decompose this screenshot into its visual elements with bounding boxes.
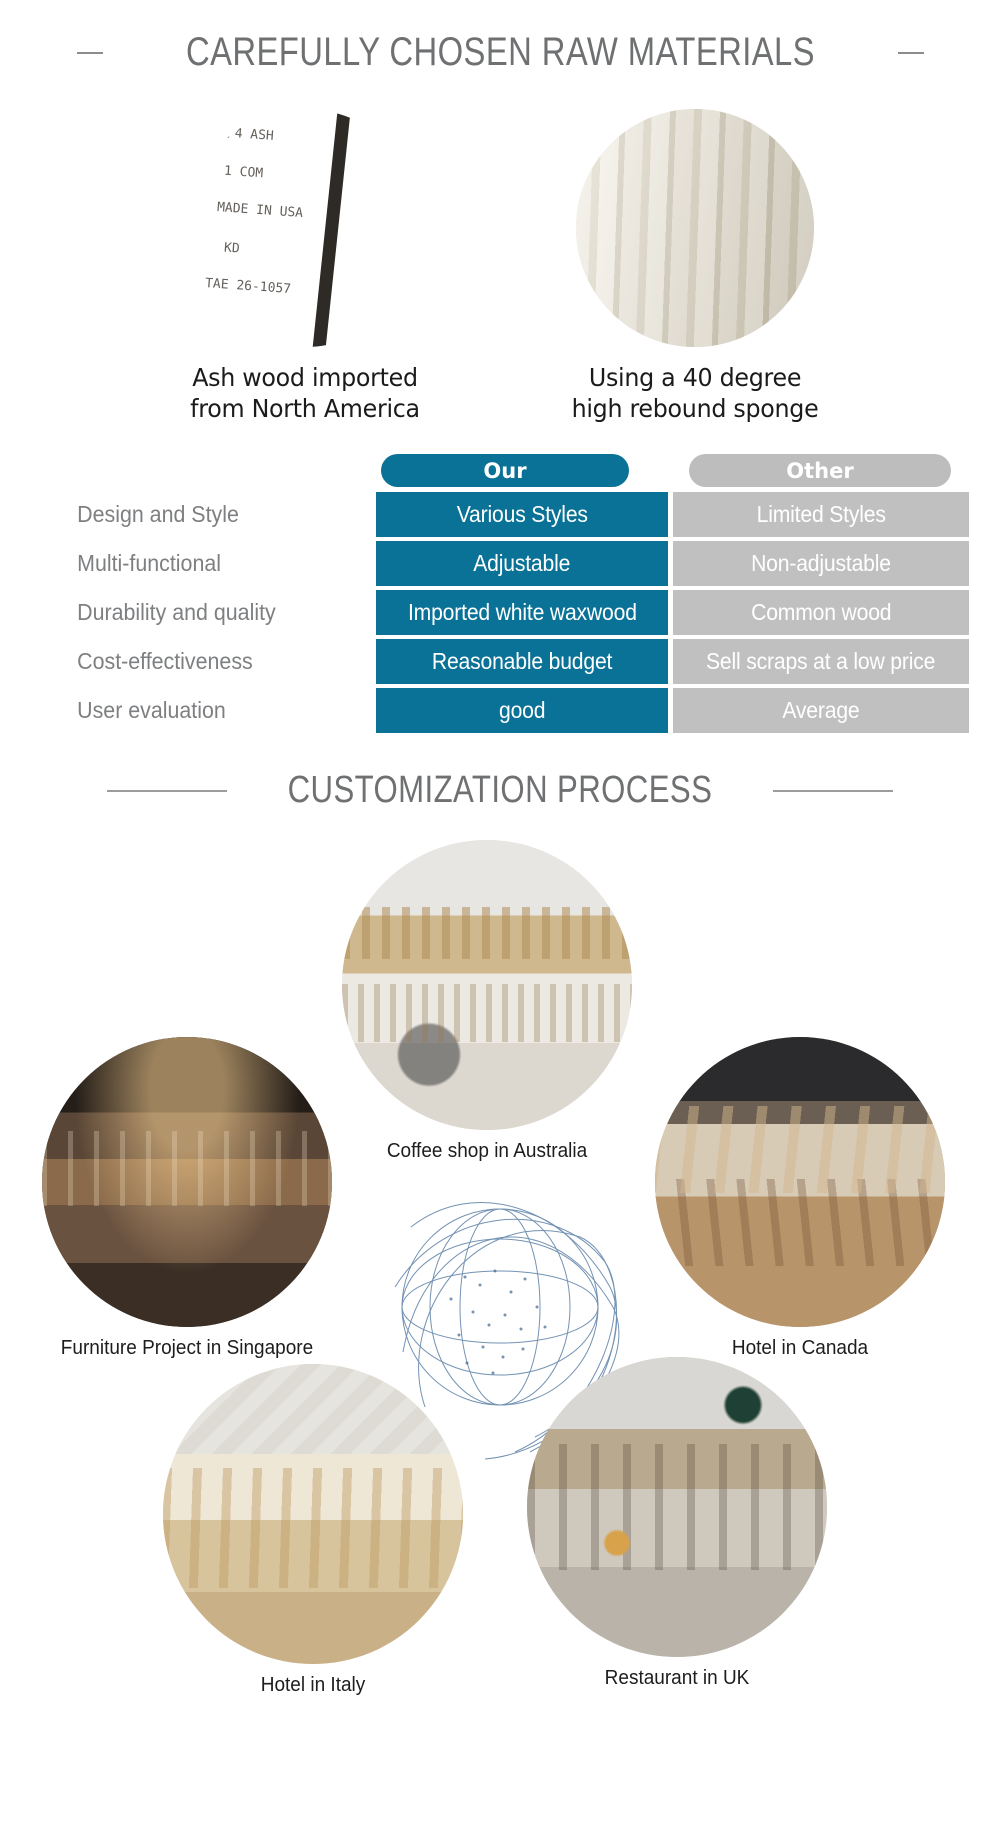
gallery-caption: Furniture Project in Singapore <box>49 1337 325 1360</box>
table-row: Design and Style Various Styles Limited … <box>26 492 974 537</box>
heading-rule-right <box>898 52 924 54</box>
raw-material-item-sponge: Using a 40 degree high rebound sponge <box>530 109 860 424</box>
comparison-body: Design and Style Various Styles Limited … <box>26 492 974 733</box>
page-title: CAREFULLY CHOSEN RAW MATERIALS <box>186 30 815 75</box>
gallery-item-hotel-canada: Hotel in Canada <box>655 1037 945 1360</box>
coffee-shop-australia-photo <box>342 840 632 1130</box>
comparison-table: Our Other Design and Style Various Style… <box>26 454 974 733</box>
hotel-italy-photo <box>163 1364 463 1664</box>
comparison-cell-ours: Adjustable <box>376 541 668 586</box>
gallery-item-hotel-italy: Hotel in Italy <box>163 1364 463 1697</box>
furniture-project-singapore-photo <box>42 1037 332 1327</box>
caption-line-1: Using a 40 degree <box>538 363 852 394</box>
caption-line-2: high rebound sponge <box>538 394 852 425</box>
raw-materials-list: 0/4 ASH 1 COM MADE IN USA KD TAE 26-1057… <box>0 109 1000 424</box>
table-row: Cost-effectiveness Reasonable budget Sel… <box>26 639 974 684</box>
comparison-cell-other: Non-adjustable <box>673 541 969 586</box>
heading-rule-left <box>77 52 103 54</box>
gallery-item-restaurant-uk: Restaurant in UK <box>527 1357 827 1690</box>
raw-material-caption: Using a 40 degree high rebound sponge <box>538 363 852 424</box>
raw-materials-section-heading: CAREFULLY CHOSEN RAW MATERIALS <box>0 30 1000 75</box>
comparison-cell-other: Average <box>673 688 969 733</box>
comparison-header-other: Other <box>689 454 951 487</box>
comparison-header-row: Our Other <box>376 454 974 487</box>
project-gallery: Coffee shop in Australia Furniture Proje… <box>0 822 1000 1752</box>
heading-rule-left <box>107 790 227 792</box>
stencil-text-overlay: 0/4 ASH 1 COM MADE IN USA KD TAE 26-1057 <box>186 109 424 347</box>
raw-material-caption: Ash wood imported from North America <box>148 363 462 424</box>
comparison-cell-ours: Various Styles <box>376 492 668 537</box>
stencil-line-1: 0/4 ASH <box>219 126 275 143</box>
comparison-header-ours: Our <box>381 454 629 487</box>
heading-rule-right <box>773 790 893 792</box>
comparison-row-label: Design and Style <box>26 492 352 537</box>
sponge-photo <box>576 109 814 347</box>
comparison-cell-other: Common wood <box>673 590 969 635</box>
caption-line-1: Ash wood imported <box>148 363 462 394</box>
hotel-canada-photo <box>655 1037 945 1327</box>
comparison-row-label: User evaluation <box>26 688 352 733</box>
stencil-line-3: MADE IN USA <box>217 201 304 220</box>
stencil-line-4: KD <box>224 242 241 256</box>
table-row: User evaluation good Average <box>26 688 974 733</box>
table-row: Durability and quality Imported white wa… <box>26 590 974 635</box>
comparison-cell-ours: good <box>376 688 668 733</box>
caption-line-2: from North America <box>148 394 462 425</box>
customization-process-section-heading: CUSTOMIZATION PROCESS <box>0 769 1000 812</box>
restaurant-uk-photo <box>527 1357 827 1657</box>
gallery-item-furniture-project-singapore: Furniture Project in Singapore <box>42 1037 332 1360</box>
comparison-cell-other: Sell scraps at a low price <box>673 639 969 684</box>
raw-material-item-ash-wood: 0/4 ASH 1 COM MADE IN USA KD TAE 26-1057… <box>140 109 470 424</box>
comparison-row-label: Cost-effectiveness <box>26 639 352 684</box>
comparison-cell-ours: Imported white waxwood <box>376 590 668 635</box>
comparison-cell-ours: Reasonable budget <box>376 639 668 684</box>
stencil-line-2: 1 COM <box>224 165 264 181</box>
ash-wood-photo: 0/4 ASH 1 COM MADE IN USA KD TAE 26-1057 <box>186 109 424 347</box>
gallery-item-coffee-shop-australia: Coffee shop in Australia <box>342 840 632 1163</box>
comparison-row-label: Multi-functional <box>26 541 352 586</box>
section-title: CUSTOMIZATION PROCESS <box>288 769 713 812</box>
stencil-line-5: TAE 26-1057 <box>205 277 292 296</box>
comparison-cell-other: Limited Styles <box>673 492 969 537</box>
gallery-caption: Hotel in Italy <box>171 1674 456 1697</box>
gallery-caption: Restaurant in UK <box>535 1667 820 1690</box>
table-row: Multi-functional Adjustable Non-adjustab… <box>26 541 974 586</box>
gallery-caption: Coffee shop in Australia <box>349 1140 625 1163</box>
comparison-row-label: Durability and quality <box>26 590 352 635</box>
